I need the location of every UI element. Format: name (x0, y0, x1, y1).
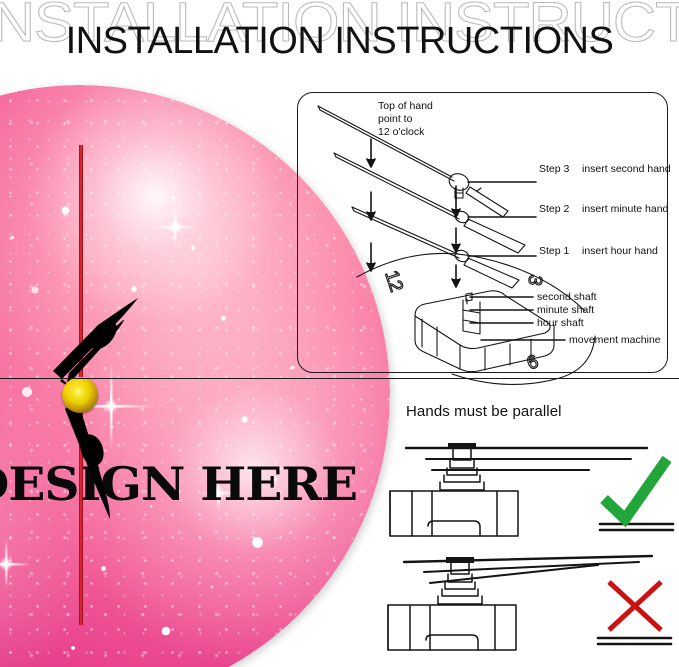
step-1-number: Step 1 (539, 245, 582, 258)
hour-shaft-label: hour shaft (537, 317, 584, 330)
installation-instructions-page: INSTALLATION INSTRUCTIONS INSTALLATION I… (0, 0, 679, 667)
step-3-number: Step 3 (539, 163, 582, 176)
hint-line-2: point to (378, 113, 433, 126)
second-shaft-label: second shaft (537, 291, 597, 304)
step-3-text: insert second hand (582, 163, 671, 175)
hand-orientation-hint: Top of hand point to 12 o'clock (378, 100, 433, 138)
hint-line-3: 12 o'clock (378, 126, 433, 139)
step-2-number: Step 2 (539, 203, 582, 216)
step-2-text: insert minute hand (582, 203, 668, 215)
movement-machine-label: movement machine (569, 334, 661, 347)
step-1-label: Step 1insert hour hand (539, 245, 658, 258)
hands-parallel-title: Hands must be parallel (406, 403, 562, 421)
hint-line-1: Top of hand (378, 100, 433, 113)
step-3-label: Step 3insert second hand (539, 163, 671, 176)
minute-shaft-label: minute shaft (537, 304, 594, 317)
step-2-label: Step 2insert minute hand (539, 203, 668, 216)
hands-parallel-panel (0, 378, 679, 667)
page-title: INSTALLATION INSTRUCTIONS (0, 22, 679, 60)
step-1-text: insert hour hand (582, 245, 658, 257)
hand-installation-diagram-panel (297, 92, 668, 373)
